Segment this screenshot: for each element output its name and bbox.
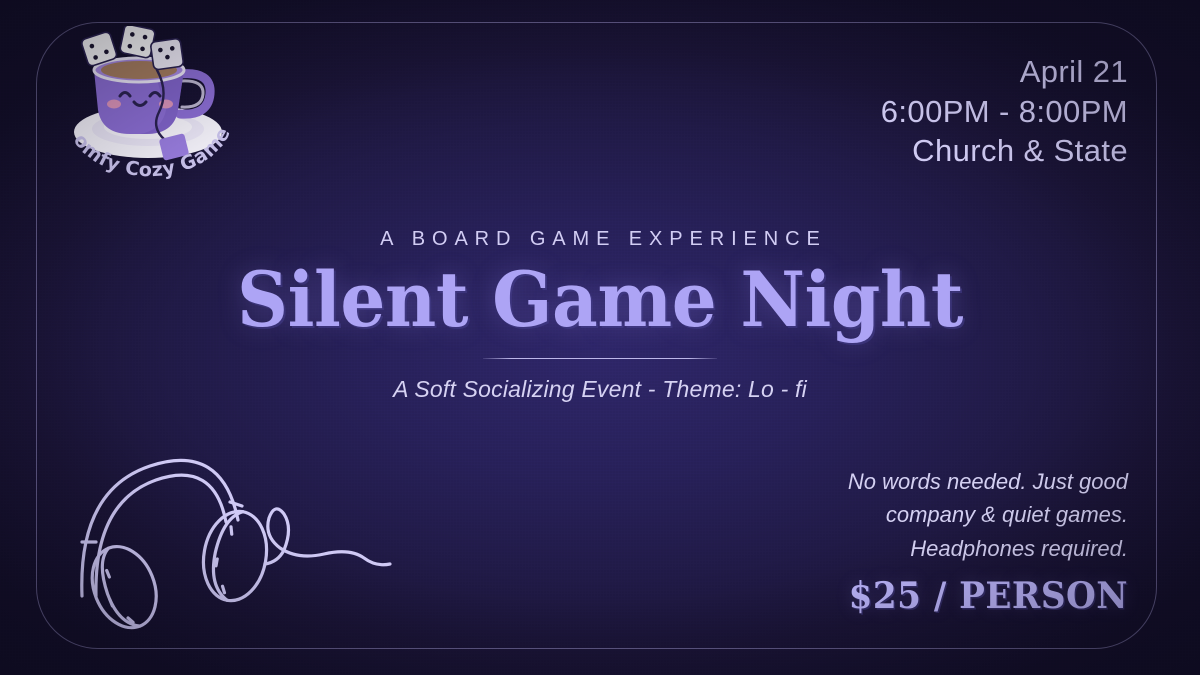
blurb-line-2: company & quiet games.: [728, 498, 1128, 531]
event-venue: Church & State: [881, 131, 1128, 171]
headphones-icon: [72, 446, 402, 636]
blurb-line-3: Headphones required.: [728, 532, 1128, 565]
blurb-line-1: No words needed. Just good: [728, 465, 1128, 498]
page-title: Silent Game Night: [42, 257, 1158, 342]
ticket-price: $25 / PERSON: [748, 575, 1128, 617]
title-divider: [483, 358, 717, 359]
event-tagline: A Soft Socializing Event - Theme: Lo - f…: [0, 376, 1200, 403]
event-blurb: No words needed. Just good company & qui…: [728, 465, 1128, 617]
headline-block: A BOARD GAME EXPERIENCE Silent Game Nigh…: [0, 228, 1200, 403]
event-kicker: A BOARD GAME EXPERIENCE: [0, 228, 1200, 251]
brand-logo: Comfy Cozy Games: [62, 26, 240, 186]
event-details: April 21 6:00PM - 8:00PM Church & State: [881, 52, 1128, 171]
poster-canvas: Comfy Cozy Games April 21 6:00PM - 8:00P…: [0, 0, 1200, 675]
event-time: 6:00PM - 8:00PM: [881, 92, 1128, 132]
event-date: April 21: [881, 52, 1128, 92]
